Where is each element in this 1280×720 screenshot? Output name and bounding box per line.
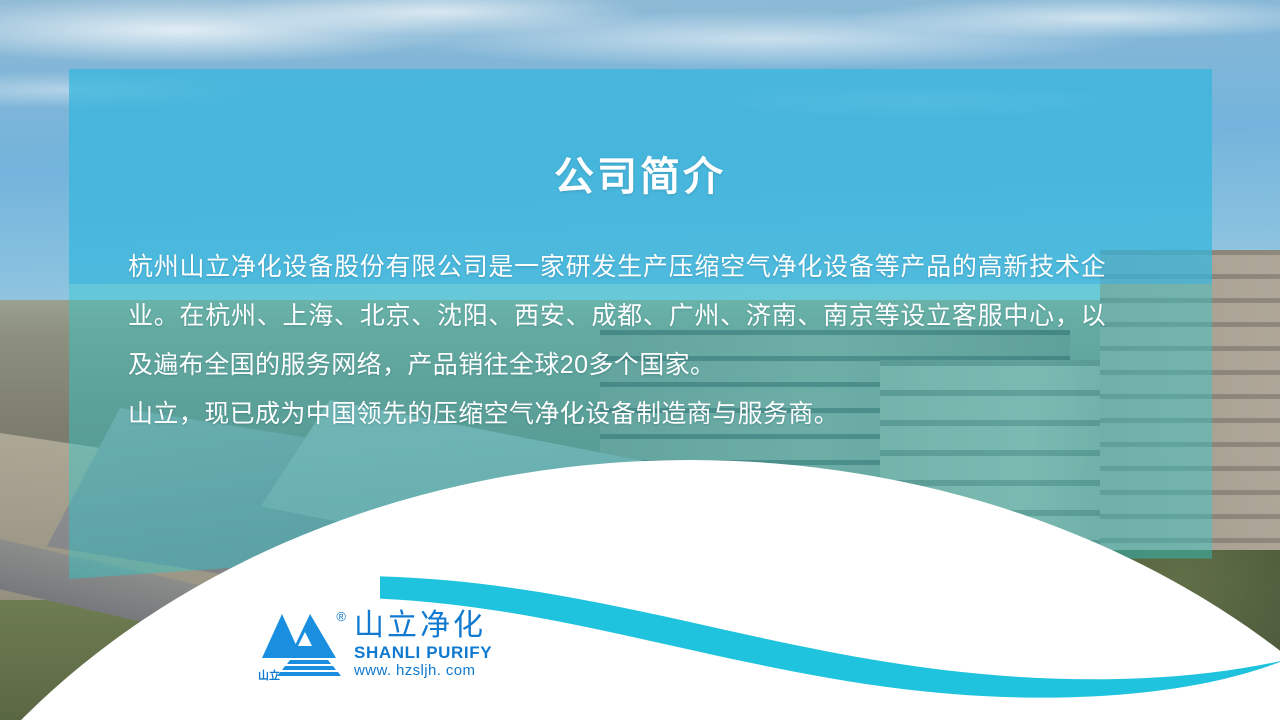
logo-name-cn: 山立净化	[354, 609, 492, 643]
logo-mark-label: 山立	[258, 670, 280, 682]
company-description-paragraph-1: 杭州山立净化设备股份有限公司是一家研发生产压缩空气净化设备等产品的高新技术企业。…	[128, 243, 1106, 390]
company-description: 杭州山立净化设备股份有限公司是一家研发生产压缩空气净化设备等产品的高新技术企业。…	[128, 243, 1106, 439]
registered-trademark-icon: ®	[336, 610, 346, 623]
company-logo: ® 山立 山立净化 SHANLI PURIFY www. hzsljh. com	[258, 608, 492, 682]
logo-name-en: SHANLI PURIFY	[354, 643, 492, 662]
logo-website-url: www. hzsljh. com	[354, 662, 492, 680]
presentation-slide: 公司简介 杭州山立净化设备股份有限公司是一家研发生产压缩空气净化设备等产品的高新…	[0, 0, 1280, 720]
mountain-logo-icon: ® 山立	[258, 608, 344, 682]
company-description-paragraph-2: 山立，现已成为中国领先的压缩空气净化设备制造商与服务商。	[128, 390, 1106, 439]
logo-wordmark: 山立净化 SHANLI PURIFY www. hzsljh. com	[354, 609, 492, 682]
page-title: 公司简介	[0, 152, 1280, 202]
